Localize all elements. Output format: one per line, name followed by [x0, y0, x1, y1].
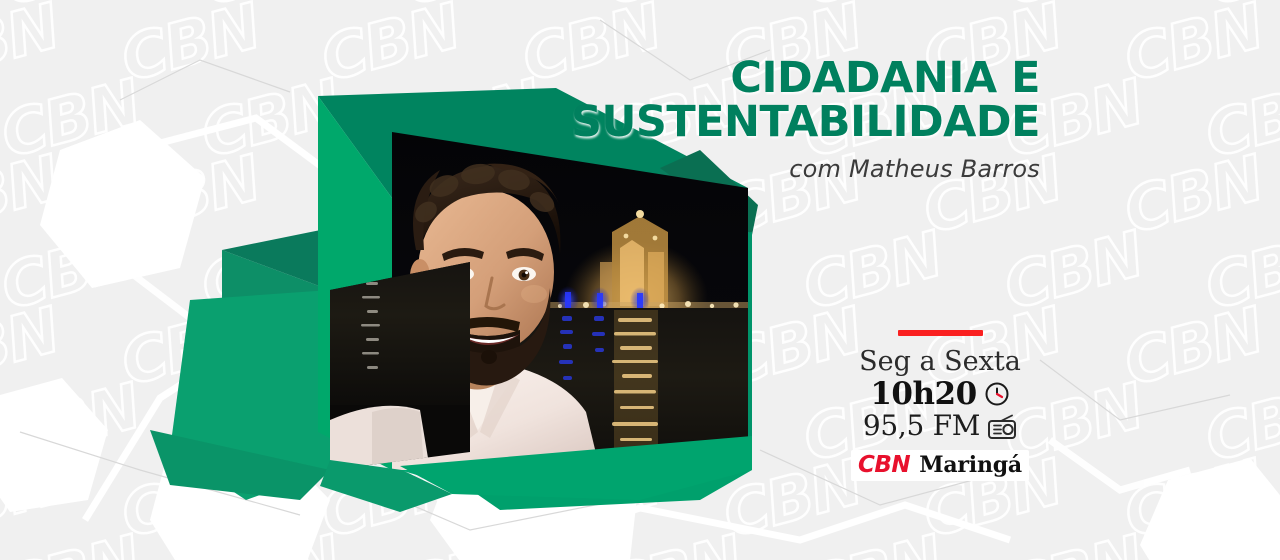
schedule-days: Seg a Sexta	[840, 346, 1040, 377]
frequency-row: 95,5 FM	[840, 411, 1040, 442]
clock-icon	[984, 381, 1010, 407]
program-title-line1: CIDADANIA E	[571, 56, 1040, 100]
host-photo-sliver	[320, 255, 480, 480]
radio-program-banner: CBNCBNCBNCBNCBNCBNCBNCBNCBNCBN CBNCBNCBN…	[0, 0, 1280, 560]
radio-icon	[987, 414, 1017, 440]
program-title-block: CIDADANIA E SUSTENTABILIDADE com Matheus…	[571, 56, 1040, 183]
program-title-line2: SUSTENTABILIDADE	[571, 100, 1040, 144]
frequency-value: 95,5 FM	[863, 411, 980, 442]
cbn-city-name: Maringá	[919, 452, 1022, 478]
program-host-subtitle: com Matheus Barros	[571, 155, 1040, 183]
schedule-time-row: 10h20	[840, 377, 1040, 411]
schedule-time: 10h20	[870, 377, 976, 411]
cbn-maringa-logo[interactable]: CBN Maringá	[851, 450, 1029, 481]
red-accent-bar	[898, 330, 983, 336]
broadcast-info-block: Seg a Sexta 10h20 95,5 FM CBN Maringá	[840, 330, 1040, 481]
cbn-wordmark: CBN	[858, 452, 910, 478]
